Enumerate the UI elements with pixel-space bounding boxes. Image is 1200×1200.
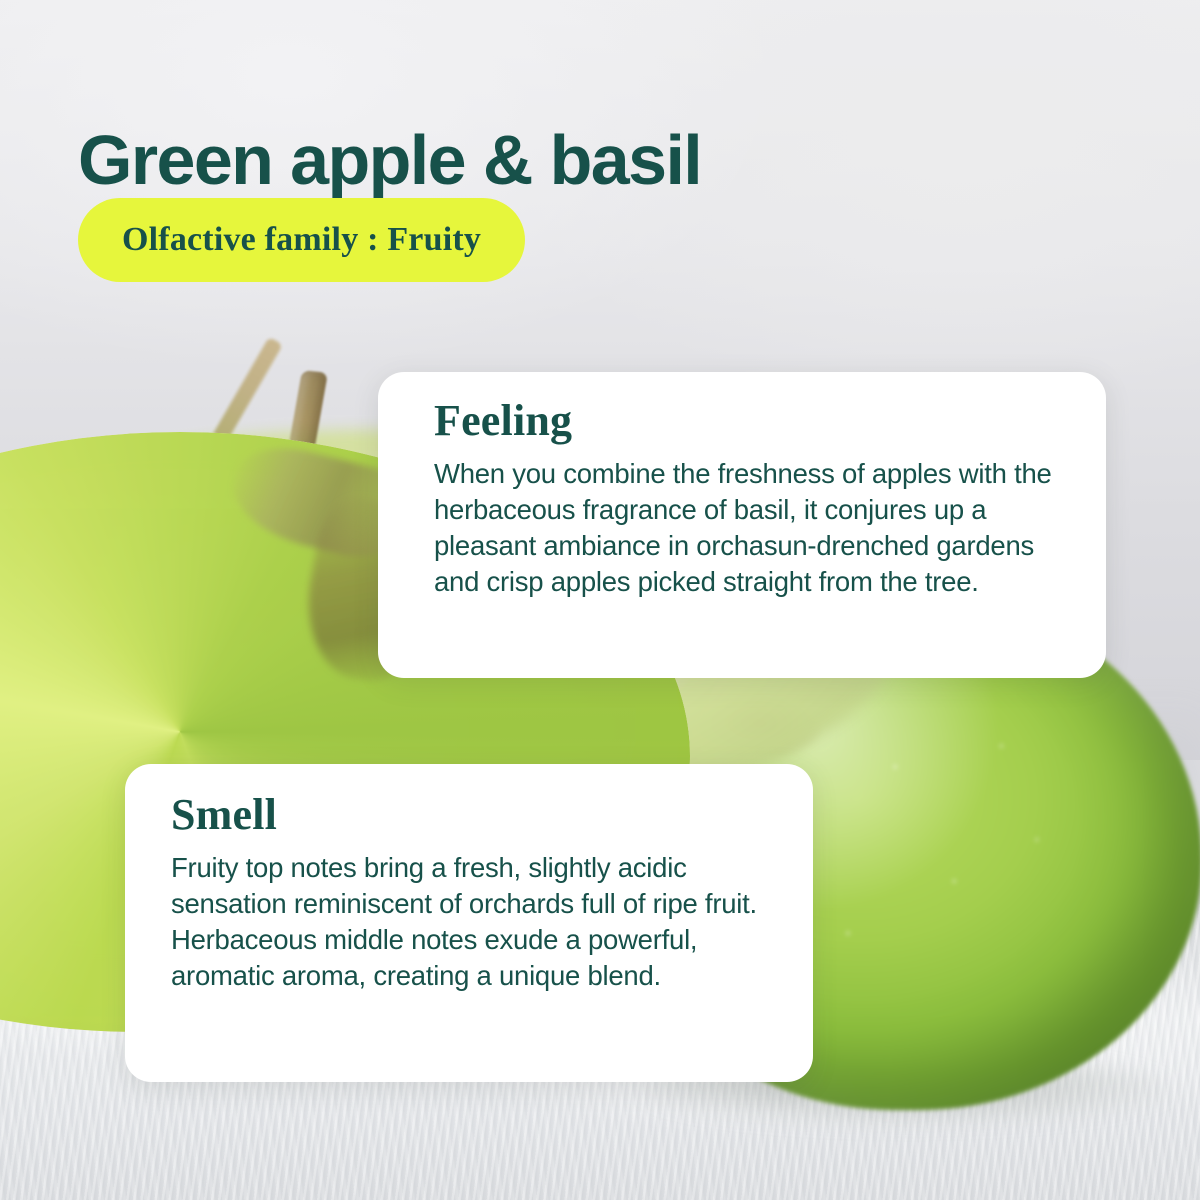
smell-card-body: Fruity top notes bring a fresh, slightly…: [171, 850, 777, 994]
feeling-card-body: When you combine the freshness of apples…: [434, 456, 1066, 600]
product-scent-poster: Green apple & basil Olfactive family : F…: [0, 0, 1200, 1200]
feeling-card-heading: Feeling: [434, 398, 1066, 444]
smell-card: Smell Fruity top notes bring a fresh, sl…: [125, 764, 813, 1082]
page-title: Green apple & basil: [78, 125, 701, 195]
feeling-card: Feeling When you combine the freshness o…: [378, 372, 1106, 678]
olfactive-family-badge: Olfactive family : Fruity: [78, 198, 525, 282]
smell-card-heading: Smell: [171, 792, 777, 838]
